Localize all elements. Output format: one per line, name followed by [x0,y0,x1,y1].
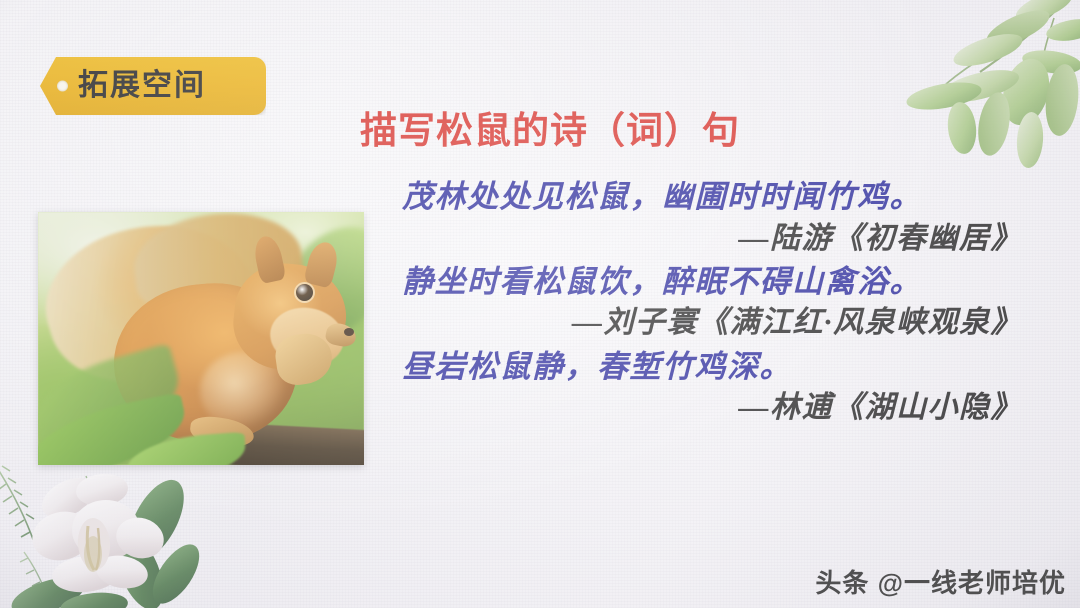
poem-line: 茂林处处见松鼠，幽圃时时闻竹鸡。 [388,176,1028,218]
squirrel-eye [296,284,313,301]
slide-canvas: 拓展空间 描写松鼠的诗（词）句 茂林处处见松鼠，幽圃时时闻竹鸡。 —陆游《初春幽… [0,0,1080,608]
poem-source: —刘子寰《满江红·风泉峡观泉》 [388,302,1028,343]
tag-hole-dot [57,81,68,92]
poem-line: 昼岩松鼠静，春堑竹鸡深。 [388,346,1028,388]
page-title: 描写松鼠的诗（词）句 [360,100,740,154]
section-tag-label: 拓展空间 [78,71,206,101]
poem-entry: 茂林处处见松鼠，幽圃时时闻竹鸡。 —陆游《初春幽居》 [388,176,1028,259]
poem-entry: 静坐时看松鼠饮，醉眠不碍山禽浴。 —刘子寰《满江红·风泉峡观泉》 [388,261,1028,344]
poem-block: 茂林处处见松鼠，幽圃时时闻竹鸡。 —陆游《初春幽居》 静坐时看松鼠饮，醉眠不碍山… [388,176,1028,431]
poem-source: —林逋《湖山小隐》 [388,387,1028,428]
squirrel-photo [38,212,364,465]
poem-source: —陆游《初春幽居》 [388,218,1028,259]
section-tag: 拓展空间 [40,57,266,115]
leaves-icon [876,0,1080,178]
squirrel-nose [344,328,354,336]
poem-line: 静坐时看松鼠饮，醉眠不碍山禽浴。 [388,261,1028,303]
poem-entry: 昼岩松鼠静，春堑竹鸡深。 —林逋《湖山小隐》 [388,346,1028,429]
watermark: 头条 @一线老师培优 [815,563,1066,600]
decorative-leaves-top-right [876,0,1080,178]
